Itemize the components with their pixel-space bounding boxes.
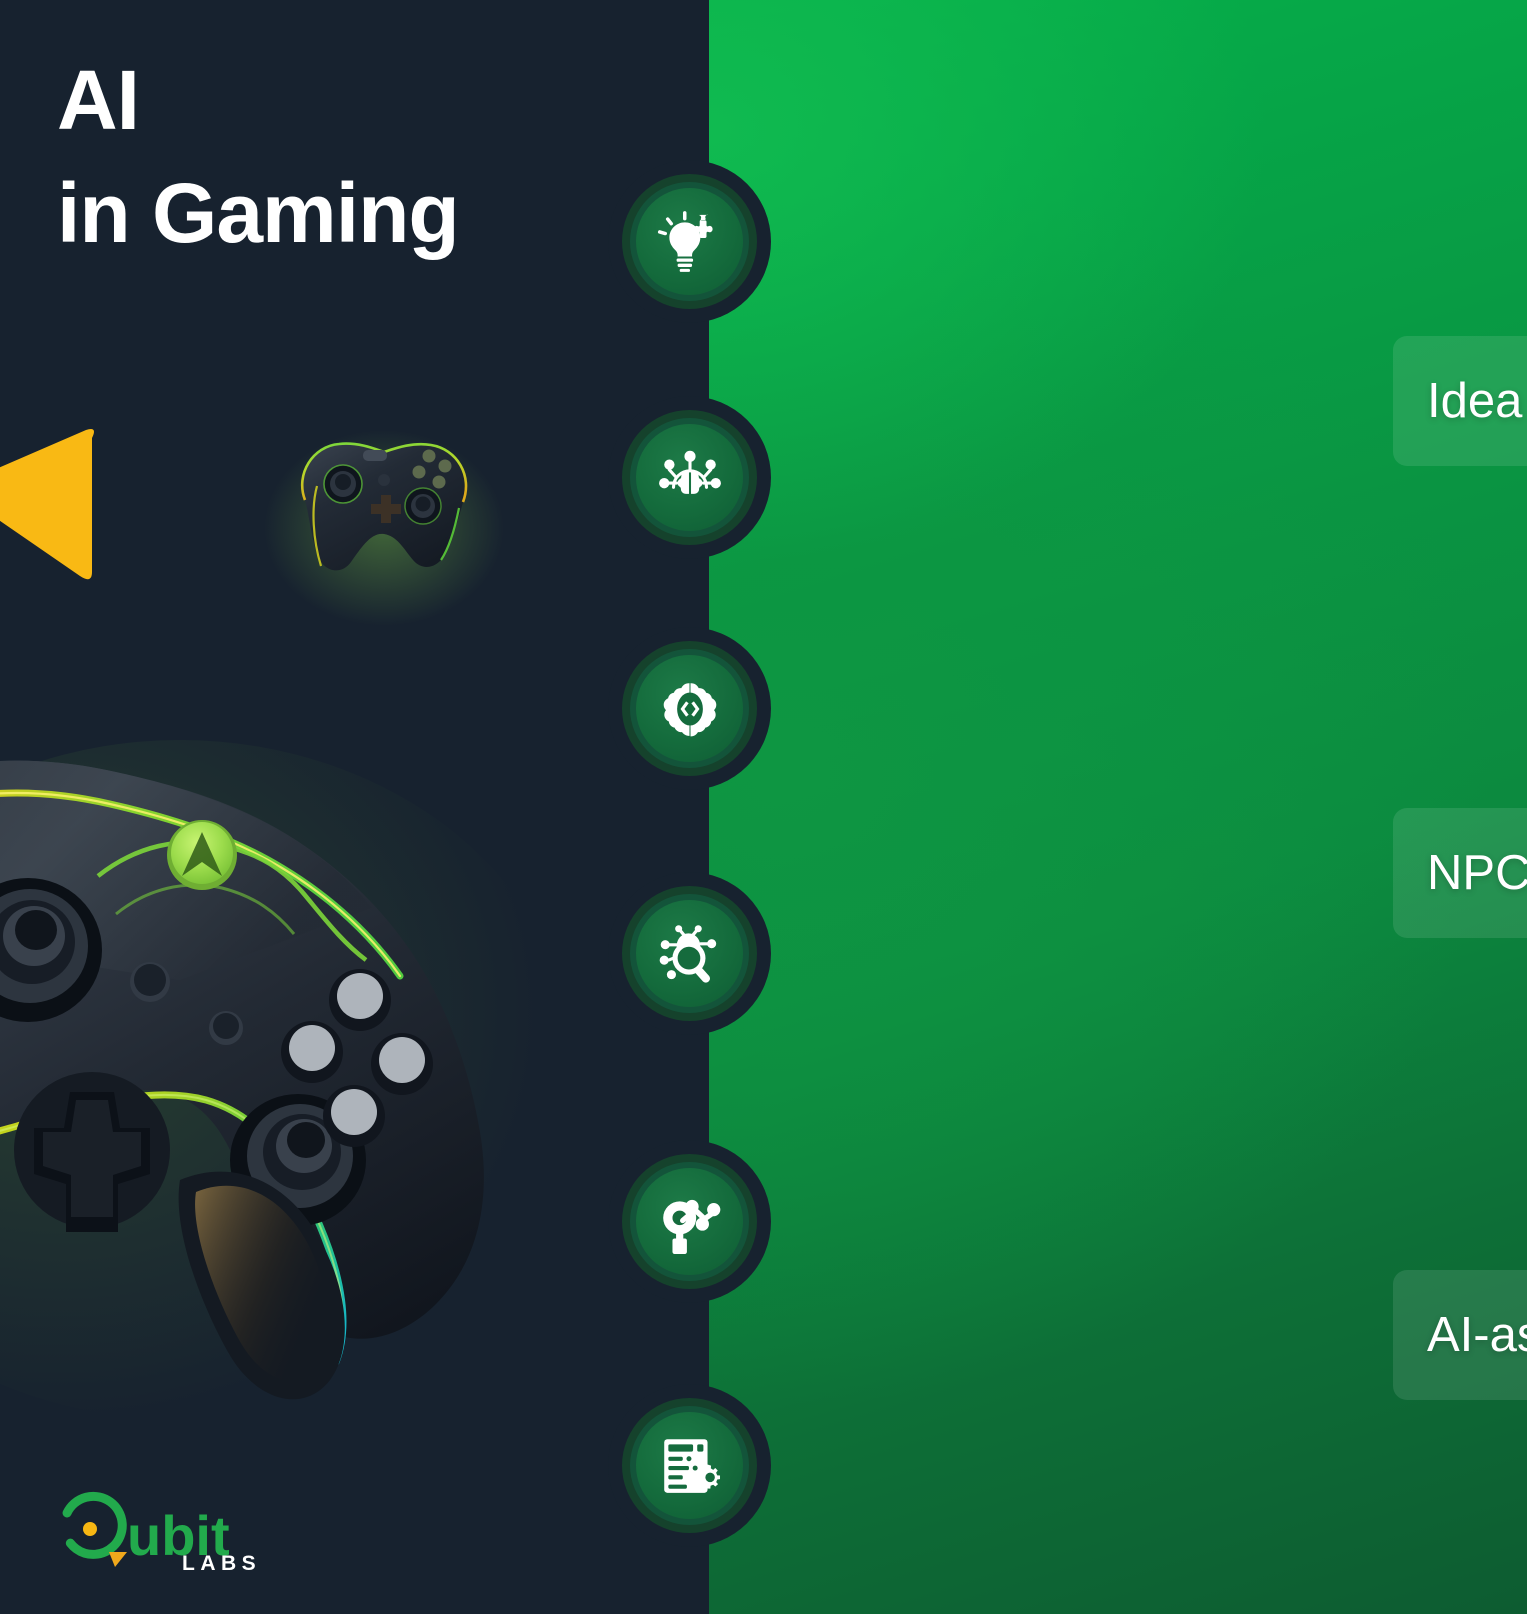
feature-badge	[608, 160, 771, 323]
badge-disc	[636, 188, 743, 295]
feature-badge	[608, 872, 771, 1035]
feature-list: Idea generation	[0, 0, 1527, 1614]
brain-code-icon	[657, 676, 723, 742]
brain-network-icon	[657, 445, 723, 511]
badge-disc	[636, 655, 743, 762]
list-item[interactable]: NPC intelligence	[608, 396, 771, 559]
feature-badge	[608, 1384, 771, 1547]
brand-logo[interactable]: ubit LABS	[57, 1489, 277, 1584]
feature-label: NPC intelligence	[1393, 846, 1527, 901]
analytics-nodes-icon	[657, 1189, 723, 1255]
list-item[interactable]: Predictive bug detection	[608, 872, 771, 1035]
feature-pill[interactable]: AI-assisted coding	[1393, 1270, 1527, 1400]
list-item[interactable]: AI-assisted coding	[608, 627, 771, 790]
badge-disc	[636, 1168, 743, 1275]
list-item[interactable]: Content optimization	[608, 1384, 771, 1547]
document-gear-icon	[657, 1433, 723, 1499]
lightbulb-puzzle-icon	[657, 209, 723, 275]
feature-badge	[608, 1140, 771, 1303]
badge-disc	[636, 424, 743, 531]
feature-pill[interactable]: Idea generation	[1393, 336, 1527, 466]
list-item[interactable]: Idea generation	[608, 160, 771, 323]
list-item[interactable]: Predictive analytics	[608, 1140, 771, 1303]
bug-magnifier-icon	[657, 921, 723, 987]
badge-disc	[636, 1412, 743, 1519]
logo-subtitle: LABS	[182, 1552, 261, 1576]
feature-label: AI-assisted coding	[1393, 1308, 1527, 1363]
feature-label: Idea generation	[1393, 374, 1527, 429]
badge-disc	[636, 900, 743, 1007]
infographic-poster: AI in Gaming	[0, 0, 1527, 1614]
feature-badge	[608, 627, 771, 790]
feature-badge	[608, 396, 771, 559]
feature-pill[interactable]: NPC intelligence	[1393, 808, 1527, 938]
